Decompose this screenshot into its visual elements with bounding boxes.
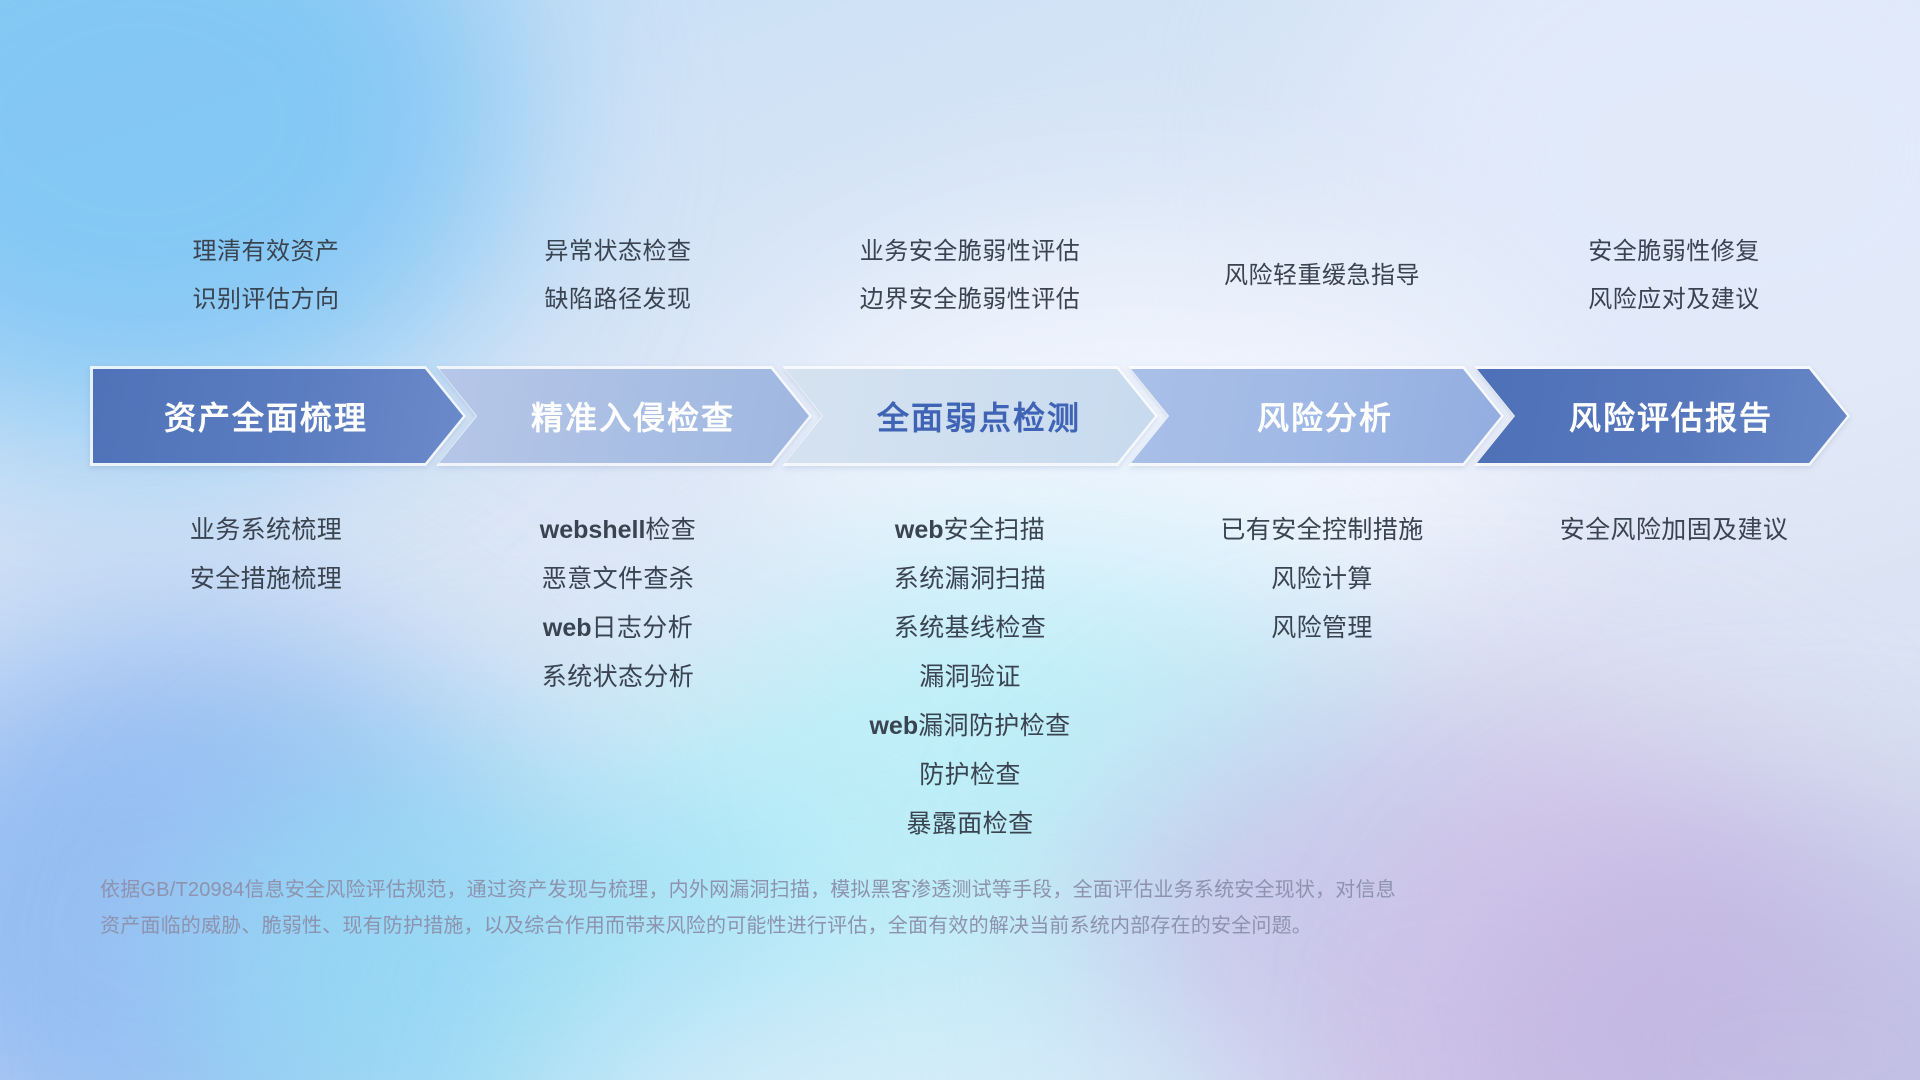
list-item-text: 漏洞防护检查 xyxy=(918,712,1070,740)
chevron-face: 风险评估报告 xyxy=(1477,369,1847,463)
list-item: 业务系统梳理 xyxy=(190,506,342,555)
stage-label: 风险分析 xyxy=(1239,393,1393,439)
bottom-list-1: 业务系统梳理 安全措施梳理 xyxy=(90,506,442,604)
chevron-face: 全面弱点检测 xyxy=(785,369,1155,463)
top-label: 业务安全脆弱性评估 xyxy=(860,228,1081,276)
list-item-text: 风险计算 xyxy=(1271,565,1373,593)
footer-caption: 依据GB/T20984信息安全风险评估规范，通过资产发现与梳理，内外网漏洞扫描，… xyxy=(100,872,1660,944)
list-item-strong: web xyxy=(543,614,592,642)
stage-label: 全面弱点检测 xyxy=(859,393,1081,439)
caption-line-1: 依据GB/T20984信息安全风险评估规范，通过资产发现与梳理，内外网漏洞扫描，… xyxy=(100,872,1660,908)
list-item-text: 漏洞验证 xyxy=(919,663,1021,691)
stage-label: 风险评估报告 xyxy=(1551,393,1773,439)
list-item-text: 系统状态分析 xyxy=(542,663,694,691)
list-item-text: 安全扫描 xyxy=(944,516,1046,544)
list-item: 系统漏洞扫描 xyxy=(894,555,1046,604)
top-label-group-4: 风险轻重缓急指导 xyxy=(1146,228,1498,300)
bottom-lists-row: 业务系统梳理 安全措施梳理 webshell检查 恶意文件查杀 web日志分析 … xyxy=(90,506,1850,849)
chevron-face: 资产全面梳理 xyxy=(93,369,463,463)
stage-chevron-5[interactable]: 风险评估报告 xyxy=(1474,366,1850,466)
top-label-group-3: 业务安全脆弱性评估 边界安全脆弱性评估 xyxy=(794,228,1146,324)
list-item: 系统基线检查 xyxy=(894,604,1046,653)
bottom-list-2: webshell检查 恶意文件查杀 web日志分析 系统状态分析 xyxy=(442,506,794,702)
stage-chevron-2[interactable]: 精准入侵检查 xyxy=(436,366,812,466)
stage-chevron-4[interactable]: 风险分析 xyxy=(1128,366,1504,466)
top-label: 异常状态检查 xyxy=(545,228,692,276)
list-item-text: 业务系统梳理 xyxy=(190,516,342,544)
process-chevron-band: 资产全面梳理 精准入侵检查 全面弱点检测 风险分析 xyxy=(90,366,1850,466)
list-item-text: 安全措施梳理 xyxy=(190,565,342,593)
stage-label: 资产全面梳理 xyxy=(164,393,392,439)
top-label: 安全脆弱性修复 xyxy=(1588,228,1760,276)
list-item: 已有安全控制措施 xyxy=(1220,506,1423,555)
list-item-text: 暴露面检查 xyxy=(906,810,1033,838)
list-item-text: 日志分析 xyxy=(592,614,694,642)
top-label-group-1: 理清有效资产 识别评估方向 xyxy=(90,228,442,324)
list-item: web漏洞防护检查 xyxy=(869,702,1070,751)
bottom-list-5: 安全风险加固及建议 xyxy=(1498,506,1850,555)
list-item-text: 防护检查 xyxy=(919,761,1021,789)
list-item-strong: web xyxy=(869,712,918,740)
list-item: 安全风险加固及建议 xyxy=(1560,506,1789,555)
list-item: web安全扫描 xyxy=(895,506,1045,555)
stage-chevron-3[interactable]: 全面弱点检测 xyxy=(782,366,1158,466)
list-item: 防护检查 xyxy=(919,751,1021,800)
top-label: 缺陷路径发现 xyxy=(545,276,692,324)
caption-line-2: 资产面临的威胁、脆弱性、现有防护措施，以及综合作用而带来风险的可能性进行评估，全… xyxy=(100,908,1660,944)
list-item-text: 系统基线检查 xyxy=(894,614,1046,642)
slide-content: 理清有效资产 识别评估方向 异常状态检查 缺陷路径发现 业务安全脆弱性评估 边界… xyxy=(0,0,1920,1080)
list-item: 恶意文件查杀 xyxy=(542,555,694,604)
list-item-text: 系统漏洞扫描 xyxy=(894,565,1046,593)
top-label: 风险轻重缓急指导 xyxy=(1224,252,1420,300)
list-item-text: 恶意文件查杀 xyxy=(542,565,694,593)
list-item-text: 安全风险加固及建议 xyxy=(1560,516,1789,544)
list-item-text: 风险管理 xyxy=(1271,614,1373,642)
top-label-group-5: 安全脆弱性修复 风险应对及建议 xyxy=(1498,228,1850,324)
top-label: 边界安全脆弱性评估 xyxy=(860,276,1081,324)
top-label-group-2: 异常状态检查 缺陷路径发现 xyxy=(442,228,794,324)
stage-chevron-1[interactable]: 资产全面梳理 xyxy=(90,366,466,466)
list-item: 漏洞验证 xyxy=(919,653,1021,702)
top-labels-row: 理清有效资产 识别评估方向 异常状态检查 缺陷路径发现 业务安全脆弱性评估 边界… xyxy=(90,228,1850,324)
chevron-face: 精准入侵检查 xyxy=(439,369,809,463)
list-item: 风险管理 xyxy=(1271,604,1373,653)
list-item: webshell检查 xyxy=(540,506,696,555)
stage-label: 精准入侵检查 xyxy=(513,393,735,439)
list-item: web日志分析 xyxy=(543,604,693,653)
list-item: 安全措施梳理 xyxy=(190,555,342,604)
top-label: 识别评估方向 xyxy=(193,276,340,324)
chevron-face: 风险分析 xyxy=(1131,369,1501,463)
top-label: 风险应对及建议 xyxy=(1588,276,1760,324)
list-item-strong: webshell xyxy=(540,516,646,544)
top-label: 理清有效资产 xyxy=(193,228,340,276)
slide-canvas: 理清有效资产 识别评估方向 异常状态检查 缺陷路径发现 业务安全脆弱性评估 边界… xyxy=(0,0,1920,1080)
list-item-text: 检查 xyxy=(645,516,696,544)
list-item-strong: web xyxy=(895,516,944,544)
list-item-text: 已有安全控制措施 xyxy=(1220,516,1423,544)
bottom-list-4: 已有安全控制措施 风险计算 风险管理 xyxy=(1146,506,1498,653)
list-item: 系统状态分析 xyxy=(542,653,694,702)
bottom-list-3: web安全扫描 系统漏洞扫描 系统基线检查 漏洞验证 web漏洞防护检查 防护检… xyxy=(794,506,1146,849)
list-item: 风险计算 xyxy=(1271,555,1373,604)
list-item: 暴露面检查 xyxy=(906,800,1033,849)
